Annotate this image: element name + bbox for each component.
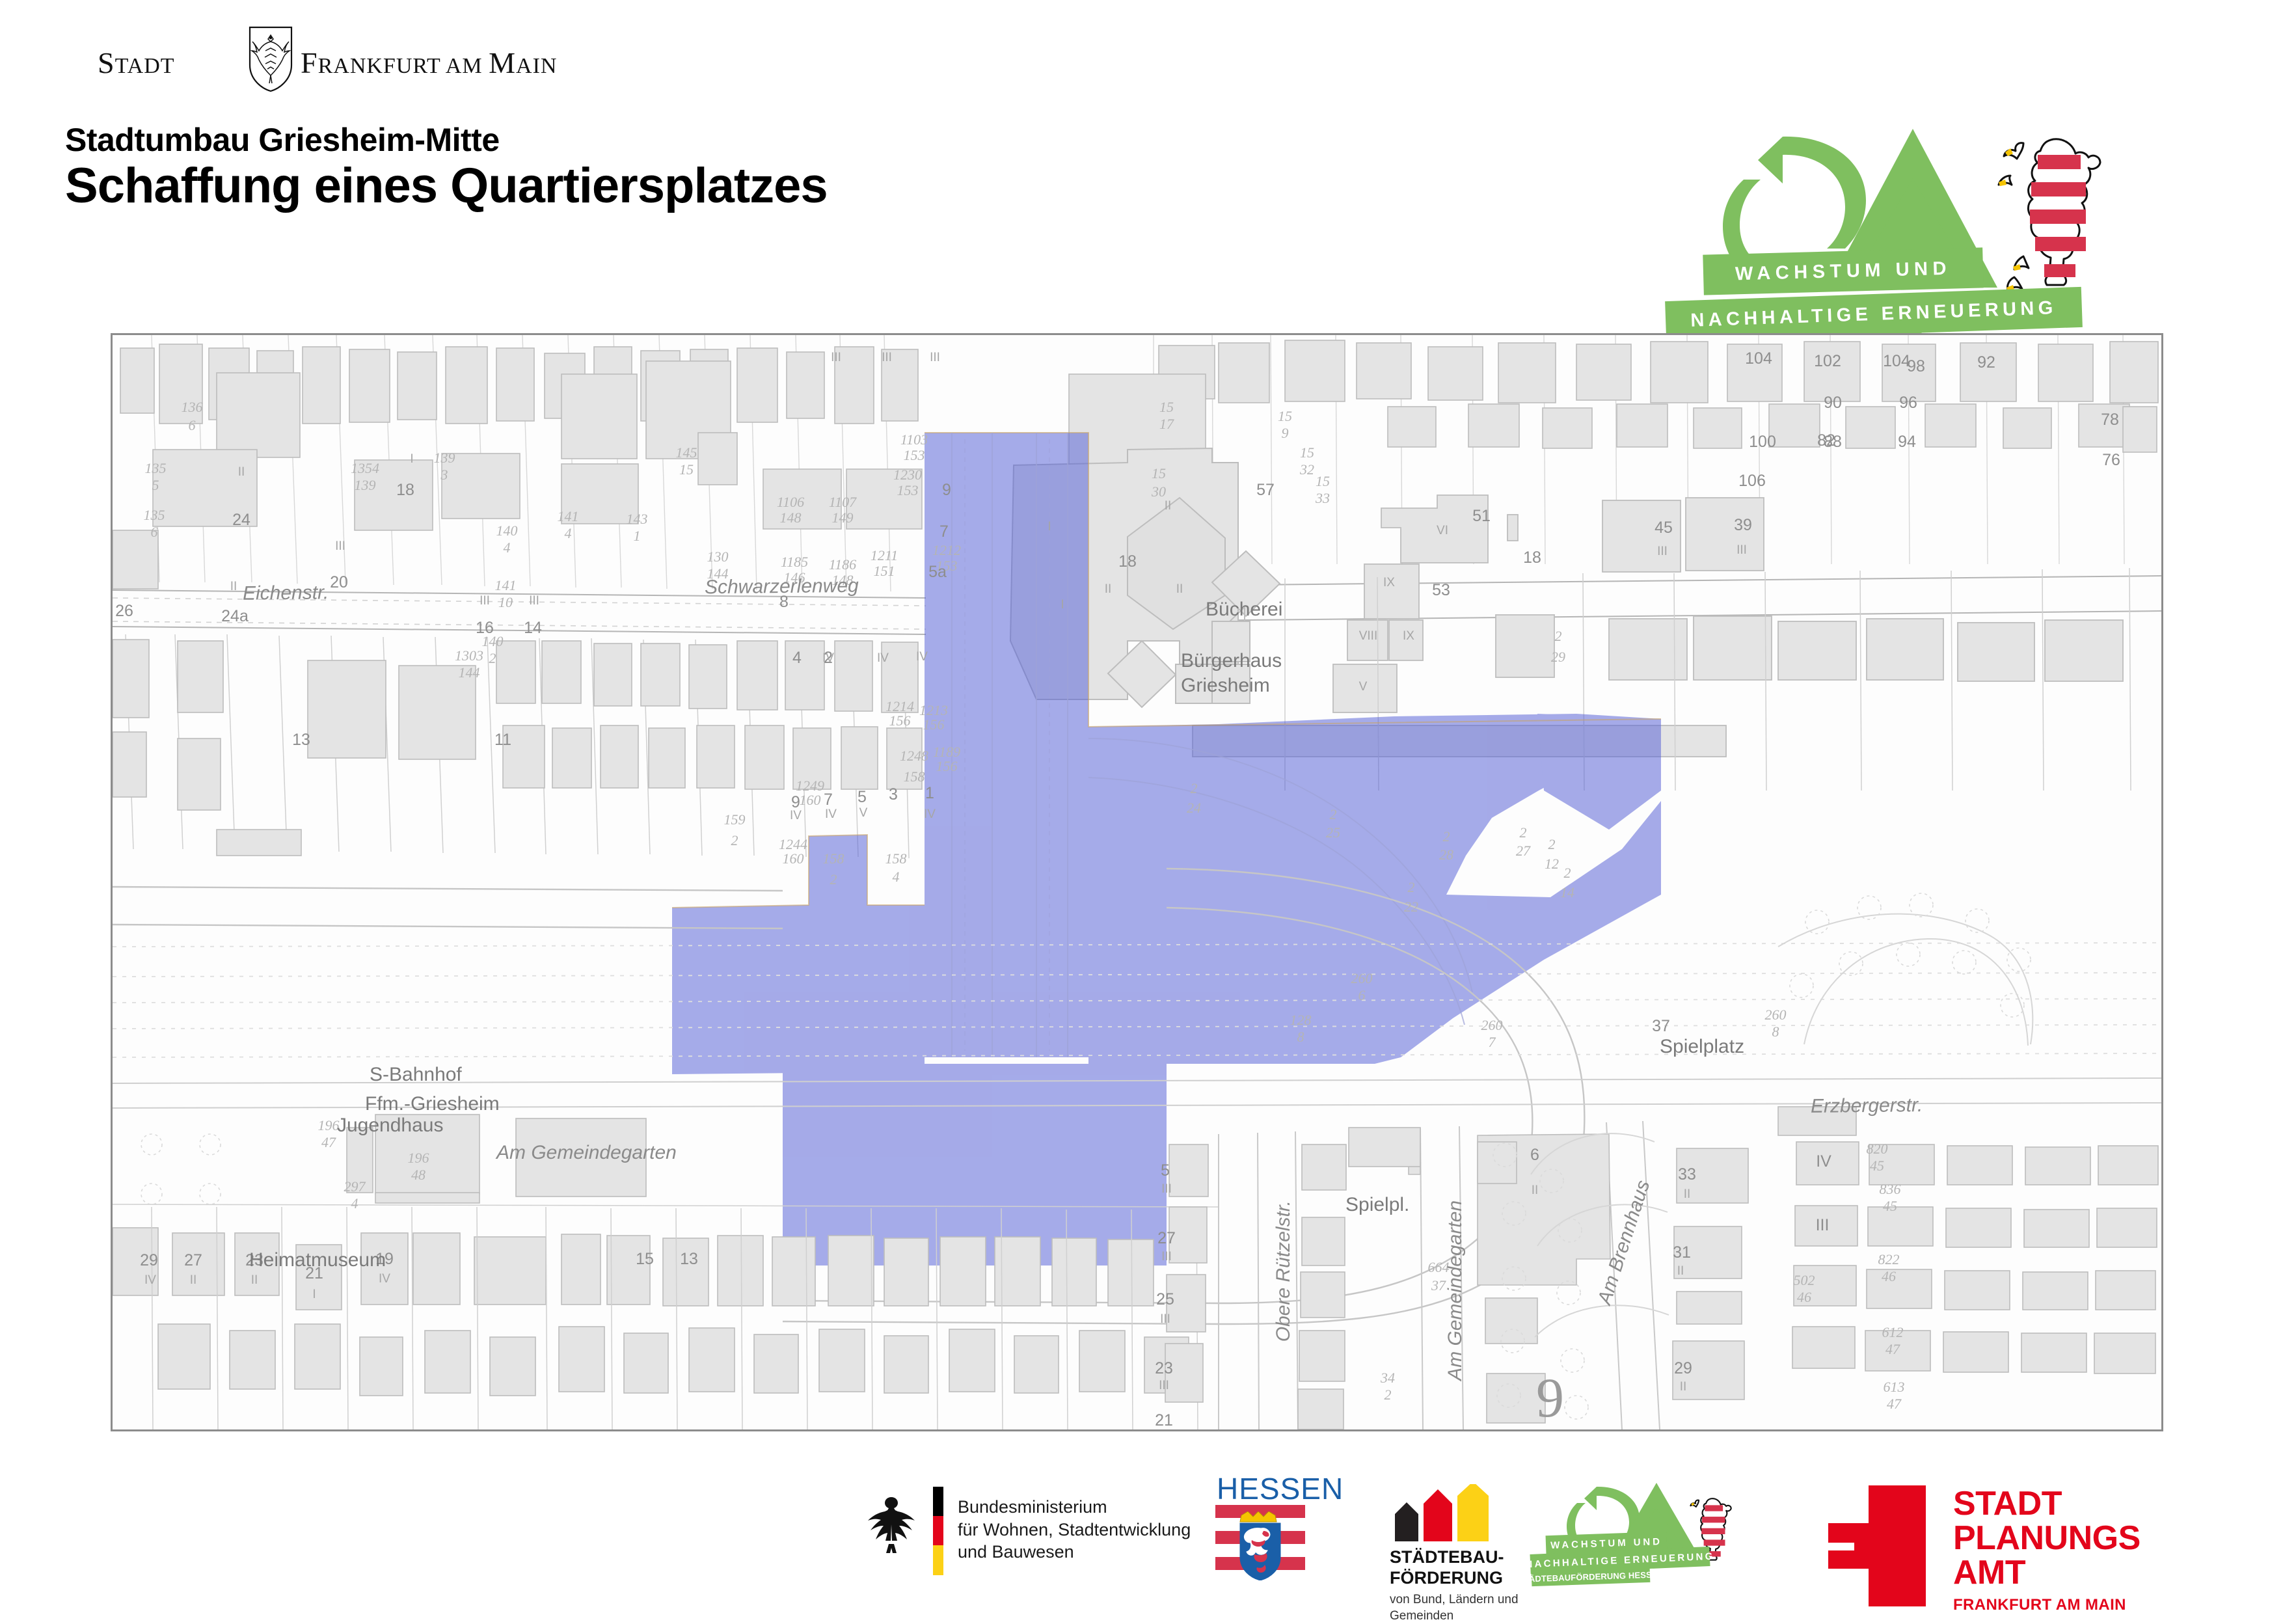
svg-text:22: 22 — [1404, 899, 1418, 915]
svg-text:160: 160 — [800, 792, 821, 808]
svg-text:158: 158 — [823, 850, 844, 867]
svg-text:130: 130 — [707, 548, 729, 565]
staedtebaufoerderung-logo: STÄDTEBAU- FÖRDERUNG von Bund, Ländern u… — [1390, 1484, 1546, 1588]
svg-text:196: 196 — [318, 1117, 340, 1133]
svg-text:I: I — [410, 452, 413, 466]
svg-text:1212: 1212 — [932, 542, 961, 558]
svg-text:19: 19 — [375, 1250, 394, 1268]
svg-text:135: 135 — [145, 460, 167, 476]
svg-text:94: 94 — [1898, 433, 1916, 451]
svg-text:IX: IX — [1383, 576, 1395, 589]
svg-text:5a: 5a — [928, 563, 947, 581]
svg-text:2: 2 — [1548, 836, 1556, 852]
svg-text:I: I — [312, 1288, 316, 1301]
svg-text:27: 27 — [184, 1251, 202, 1269]
svg-text:29: 29 — [1551, 649, 1565, 665]
svg-text:76: 76 — [2102, 451, 2120, 469]
svg-text:2: 2 — [731, 832, 738, 848]
staedtebau-title-line1: STÄDTEBAU- — [1390, 1547, 1504, 1567]
svg-text:III: III — [1161, 1182, 1172, 1196]
svg-text:9: 9 — [942, 481, 951, 499]
svg-text:15: 15 — [636, 1250, 654, 1268]
svg-text:102: 102 — [1814, 352, 1841, 370]
svg-text:143: 143 — [627, 511, 648, 527]
svg-text:100: 100 — [1749, 433, 1776, 451]
svg-text:20: 20 — [330, 573, 348, 591]
svg-text:13: 13 — [292, 731, 310, 749]
svg-text:836: 836 — [1880, 1181, 1901, 1197]
svg-text:144: 144 — [459, 664, 480, 681]
svg-text:29: 29 — [140, 1251, 158, 1269]
svg-text:2: 2 — [1330, 806, 1337, 822]
svg-text:III: III — [1160, 1312, 1170, 1326]
svg-text:32: 32 — [1299, 461, 1314, 478]
hessen-logo: HESSEN — [1215, 1471, 1332, 1582]
svg-text:92: 92 — [1977, 353, 1995, 372]
svg-text:144: 144 — [707, 565, 729, 582]
svg-text:2: 2 — [1385, 1387, 1392, 1403]
svg-text:145: 145 — [676, 444, 697, 461]
svg-text:III: III — [1161, 1250, 1172, 1264]
svg-text:15: 15 — [1300, 444, 1314, 461]
svg-text:139: 139 — [434, 450, 455, 466]
svg-text:146: 146 — [784, 569, 805, 586]
bmwsb-flag-bar — [933, 1487, 943, 1575]
svg-text:II: II — [238, 465, 245, 479]
svg-text:III: III — [335, 539, 345, 553]
svg-text:4: 4 — [792, 649, 802, 667]
svg-text:V: V — [859, 806, 868, 820]
svg-text:1248: 1248 — [900, 748, 928, 764]
svg-text:2: 2 — [1408, 879, 1415, 895]
svg-text:48: 48 — [411, 1167, 426, 1183]
svg-text:2: 2 — [1443, 828, 1450, 845]
svg-text:25: 25 — [1326, 824, 1340, 841]
svg-text:15: 15 — [679, 461, 694, 478]
hessen-lion-icon — [1991, 130, 2114, 293]
svg-text:IV: IV — [1816, 1152, 1831, 1171]
svg-text:139: 139 — [355, 477, 376, 493]
svg-text:33: 33 — [1678, 1165, 1696, 1184]
svg-text:37: 37 — [1431, 1277, 1446, 1293]
svg-text:1354: 1354 — [351, 460, 379, 476]
svg-text:II: II — [1165, 499, 1172, 513]
svg-text:1186: 1186 — [829, 556, 856, 573]
svg-text:17: 17 — [1159, 416, 1174, 432]
map-canvas: 9 1366 1355 1356 1354139 1393 1404 1414 … — [113, 335, 2161, 1429]
staedtebau-sub-line1: von Bund, Ländern und — [1390, 1592, 1519, 1608]
svg-text:135: 135 — [144, 507, 165, 523]
bmwsb-line3: und Bauwesen — [958, 1541, 1191, 1563]
svg-text:47: 47 — [1885, 1341, 1900, 1357]
svg-text:37: 37 — [1652, 1017, 1670, 1035]
svg-text:9: 9 — [1536, 1366, 1564, 1429]
svg-text:1230: 1230 — [893, 467, 922, 483]
svg-text:104: 104 — [1745, 349, 1772, 368]
svg-text:136: 136 — [182, 399, 203, 415]
svg-text:156: 156 — [923, 716, 945, 733]
svg-text:149: 149 — [832, 509, 854, 526]
svg-text:4: 4 — [504, 539, 511, 556]
stadtplanungsamt-sub: FRANKFURT AM MAIN — [1953, 1596, 2126, 1614]
svg-text:53: 53 — [1432, 581, 1450, 599]
svg-text:297: 297 — [344, 1178, 366, 1195]
svg-text:IV: IV — [924, 807, 936, 821]
svg-text:7: 7 — [824, 791, 833, 809]
svg-text:III: III — [1657, 545, 1668, 558]
cadastral-map[interactable]: 9 1366 1355 1356 1354139 1393 1404 1414 … — [111, 333, 2163, 1431]
svg-text:822: 822 — [1878, 1251, 1900, 1267]
svg-text:21: 21 — [305, 1264, 323, 1282]
svg-text:IV: IV — [790, 809, 802, 822]
svg-text:8: 8 — [1297, 1029, 1304, 1045]
svg-text:46: 46 — [1797, 1289, 1811, 1305]
svg-text:5: 5 — [152, 477, 159, 493]
svg-text:45: 45 — [1883, 1198, 1897, 1214]
svg-text:90: 90 — [1824, 394, 1842, 412]
svg-text:IV: IV — [379, 1272, 390, 1286]
svg-text:33: 33 — [1315, 490, 1330, 506]
svg-text:96: 96 — [1899, 394, 1917, 412]
svg-text:31: 31 — [1673, 1243, 1691, 1262]
svg-text:3: 3 — [889, 785, 898, 804]
svg-text:6: 6 — [189, 417, 196, 433]
svg-text:1: 1 — [925, 784, 934, 802]
svg-text:2: 2 — [1555, 628, 1562, 644]
svg-text:24a: 24a — [221, 607, 249, 625]
svg-text:II: II — [1176, 582, 1183, 596]
svg-text:21: 21 — [1155, 1411, 1173, 1429]
svg-text:612: 612 — [1882, 1324, 1904, 1340]
staedtebau-sub-line2: Gemeinden — [1390, 1608, 1519, 1624]
page-title: Schaffung eines Quartiersplatzes — [65, 157, 828, 214]
svg-text:23: 23 — [1155, 1359, 1173, 1377]
svg-text:VIII: VIII — [1359, 629, 1378, 643]
svg-text:156: 156 — [936, 758, 958, 774]
hessen-flag-icon — [1215, 1505, 1305, 1582]
svg-text:1211: 1211 — [871, 547, 898, 563]
svg-text:15: 15 — [1278, 408, 1292, 424]
svg-text:6: 6 — [1358, 987, 1366, 1003]
svg-text:664: 664 — [1428, 1259, 1450, 1275]
bmwsb-line1: Bundesministerium — [958, 1496, 1191, 1519]
svg-text:II: II — [1684, 1187, 1691, 1201]
bundesadler-icon — [865, 1493, 917, 1556]
svg-text:158: 158 — [904, 768, 925, 785]
svg-text:1106: 1106 — [777, 494, 804, 510]
svg-text:II: II — [1680, 1380, 1687, 1394]
svg-text:1: 1 — [634, 528, 641, 544]
stadtplanungsamt-line3: AMT — [1953, 1556, 2141, 1590]
svg-text:14: 14 — [1560, 884, 1574, 900]
svg-text:1107: 1107 — [829, 494, 857, 510]
svg-text:140: 140 — [496, 522, 518, 539]
svg-text:IV: IV — [822, 651, 834, 665]
city-logo-word-a: STADT — [98, 46, 175, 80]
svg-text:II: II — [1677, 1264, 1684, 1278]
svg-text:II: II — [1105, 582, 1112, 596]
svg-text:10: 10 — [498, 594, 513, 610]
svg-text:51: 51 — [1472, 507, 1491, 525]
hessen-wordmark: HESSEN — [1217, 1471, 1344, 1506]
svg-text:158: 158 — [885, 850, 907, 867]
svg-text:18: 18 — [1118, 552, 1137, 571]
svg-text:159: 159 — [724, 811, 746, 828]
svg-text:104: 104 — [1883, 352, 1910, 370]
svg-text:820: 820 — [1867, 1141, 1888, 1157]
svg-text:III: III — [1736, 543, 1747, 557]
stadtplanungsamt-line1: STADT — [1953, 1487, 2141, 1521]
svg-text:39: 39 — [1734, 516, 1752, 534]
svg-text:502: 502 — [1794, 1272, 1815, 1288]
svg-text:23: 23 — [245, 1251, 263, 1269]
bmwsb-line2: für Wohnen, Stadtentwicklung — [958, 1519, 1191, 1541]
svg-text:3: 3 — [440, 467, 448, 483]
svg-text:1303: 1303 — [455, 647, 483, 664]
svg-text:1103: 1103 — [900, 431, 928, 448]
svg-text:III: III — [1816, 1216, 1830, 1234]
svg-text:18: 18 — [396, 481, 414, 499]
funding-logo-bar: Bundesministerium für Wohnen, Stadtentwi… — [0, 1467, 2283, 1597]
svg-text:46: 46 — [1882, 1268, 1896, 1284]
svg-text:24: 24 — [232, 511, 250, 529]
svg-text:34: 34 — [1380, 1370, 1395, 1386]
svg-text:27: 27 — [1157, 1229, 1176, 1247]
svg-text:18: 18 — [1523, 548, 1541, 567]
svg-text:14: 14 — [524, 619, 542, 637]
svg-text:28: 28 — [1439, 846, 1453, 863]
wachstum-nachhaltige-erneuerung-logo-footer: WACHSTUM UND NACHHALTIGE ERNEUERUNG STÄD… — [1534, 1482, 1749, 1599]
svg-text:78: 78 — [2101, 411, 2119, 429]
svg-text:7: 7 — [939, 522, 949, 541]
svg-text:V: V — [1359, 680, 1368, 694]
svg-text:4: 4 — [351, 1195, 358, 1211]
svg-text:153: 153 — [897, 482, 919, 498]
svg-text:27: 27 — [1516, 843, 1531, 859]
svg-text:148: 148 — [832, 572, 854, 588]
svg-text:30: 30 — [1151, 483, 1166, 500]
svg-text:2: 2 — [830, 871, 837, 887]
city-logo-word-b: FRANKFURT AM MAIN — [301, 46, 557, 80]
svg-text:1185: 1185 — [781, 554, 808, 570]
svg-text:26: 26 — [115, 602, 133, 620]
svg-text:12: 12 — [1545, 856, 1559, 872]
svg-text:III: III — [831, 351, 841, 364]
svg-text:8: 8 — [1772, 1023, 1779, 1040]
svg-text:2: 2 — [1191, 780, 1198, 796]
svg-text:II: II — [1532, 1184, 1539, 1197]
svg-text:15: 15 — [1152, 465, 1166, 481]
svg-text:45: 45 — [1655, 519, 1673, 537]
svg-text:II: II — [190, 1273, 197, 1287]
svg-text:2: 2 — [1520, 824, 1527, 841]
svg-text:45: 45 — [1870, 1157, 1884, 1174]
svg-text:260: 260 — [1351, 970, 1373, 986]
svg-text:24: 24 — [1187, 800, 1201, 816]
svg-text:9: 9 — [1282, 425, 1289, 441]
svg-text:I: I — [1060, 598, 1064, 612]
svg-text:25: 25 — [1156, 1290, 1174, 1308]
svg-text:57: 57 — [1256, 481, 1275, 499]
svg-text:2: 2 — [489, 650, 496, 666]
svg-text:153: 153 — [904, 447, 925, 463]
svg-text:11: 11 — [494, 731, 511, 749]
svg-text:III: III — [480, 594, 490, 608]
svg-text:148: 148 — [780, 509, 802, 526]
svg-text:7: 7 — [1489, 1034, 1496, 1050]
svg-text:8: 8 — [779, 593, 789, 611]
svg-text:141: 141 — [495, 577, 517, 593]
city-of-frankfurt-logo: STADT FRANKFURT AM MAIN — [98, 31, 514, 90]
svg-text:III: III — [529, 594, 539, 608]
svg-text:IV: IV — [877, 651, 889, 665]
stadtplanungsamt-line2: PLANUNGS — [1953, 1521, 2141, 1556]
svg-text:160: 160 — [783, 850, 804, 867]
svg-text:156: 156 — [889, 712, 911, 729]
svg-text:47: 47 — [1887, 1396, 1902, 1412]
svg-text:II: II — [251, 1273, 258, 1287]
svg-text:196: 196 — [408, 1150, 429, 1166]
svg-text:13: 13 — [680, 1250, 698, 1268]
svg-text:VI: VI — [1437, 524, 1448, 537]
svg-text:5: 5 — [1161, 1161, 1170, 1180]
svg-text:151: 151 — [874, 563, 895, 579]
svg-text:47: 47 — [321, 1134, 336, 1150]
svg-text:6: 6 — [1530, 1146, 1539, 1164]
svg-text:III: III — [1159, 1379, 1169, 1392]
stadtplanungsamt-logo: STADT PLANUNGS AMT FRANKFURT AM MAIN — [1828, 1480, 2167, 1597]
stadtplanungsamt-mark-icon — [1828, 1485, 1926, 1606]
svg-text:IX: IX — [1403, 629, 1414, 643]
svg-text:15: 15 — [1316, 473, 1330, 489]
svg-text:4: 4 — [565, 525, 572, 541]
svg-text:16: 16 — [476, 619, 494, 637]
svg-text:IV: IV — [144, 1273, 156, 1287]
svg-text:15: 15 — [1159, 399, 1174, 415]
three-houses-icon — [1390, 1484, 1494, 1541]
project-subtitle: Stadtumbau Griesheim-Mitte — [65, 121, 500, 159]
svg-text:III: III — [882, 351, 892, 364]
svg-text:82: 82 — [1817, 431, 1835, 450]
city-logo-wordmark: STADT FRANKFURT AM MAIN — [98, 46, 514, 85]
program-logo-line1: WACHSTUM UND — [1703, 247, 1983, 295]
svg-text:4: 4 — [893, 869, 900, 885]
svg-text:IV: IV — [916, 650, 928, 664]
bmwsb-logo: Bundesministerium für Wohnen, Stadtentwi… — [865, 1482, 1230, 1579]
svg-text:III: III — [930, 351, 940, 364]
svg-text:106: 106 — [1738, 472, 1766, 490]
svg-text:128: 128 — [1290, 1012, 1312, 1028]
svg-text:I: I — [1047, 520, 1051, 534]
svg-text:141: 141 — [558, 508, 579, 524]
footer-program-line3: STÄDTEBAUFÖRDERUNG HESSEN — [1532, 1567, 1651, 1586]
svg-text:IV: IV — [825, 807, 837, 821]
staedtebau-title-line2: FÖRDERUNG — [1390, 1567, 1504, 1588]
hessen-crest-icon — [1237, 1511, 1283, 1580]
svg-text:29: 29 — [1674, 1359, 1692, 1377]
svg-text:260: 260 — [1481, 1017, 1503, 1033]
svg-text:613: 613 — [1884, 1379, 1905, 1395]
svg-text:260: 260 — [1765, 1007, 1787, 1023]
svg-text:6: 6 — [151, 524, 158, 540]
svg-text:5: 5 — [858, 788, 867, 806]
svg-text:II: II — [230, 580, 237, 593]
svg-text:2: 2 — [1564, 865, 1571, 881]
